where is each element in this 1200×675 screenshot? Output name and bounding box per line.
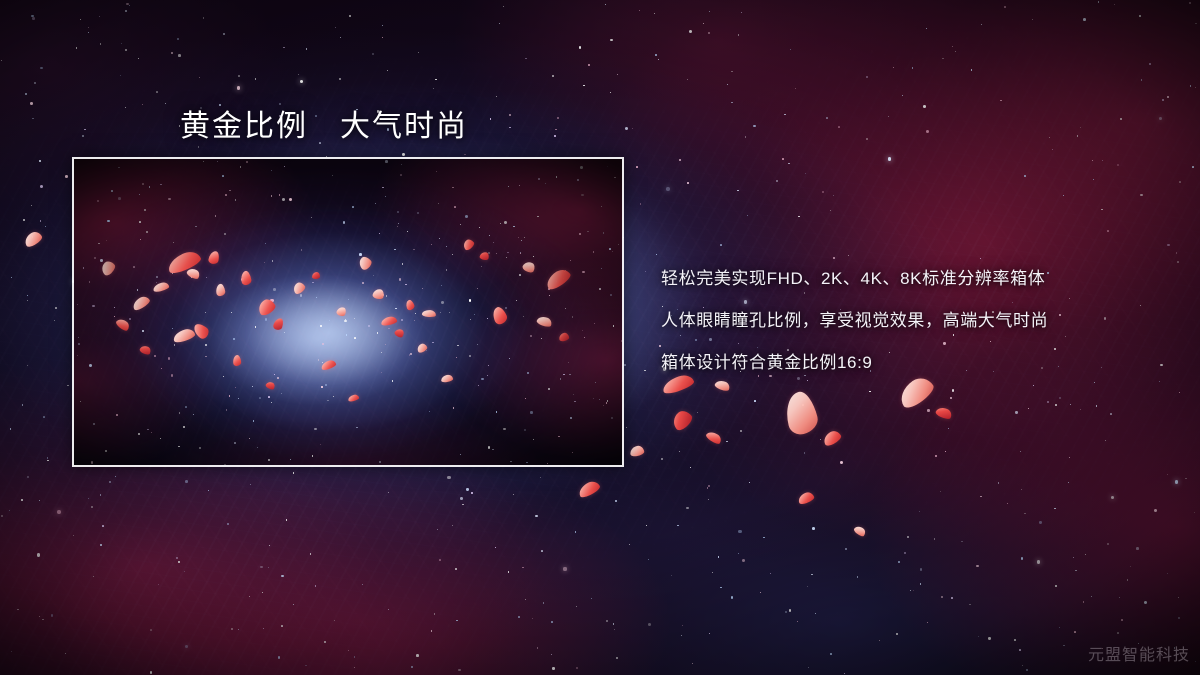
panel-photo xyxy=(74,159,622,465)
slide-canvas: 黄金比例 大气时尚 轻松完美实现FHD、2K、4K、8K标准分辨率箱体 人体眼睛… xyxy=(0,0,1200,675)
watermark-label: 元盟智能科技 xyxy=(1088,641,1190,665)
body-line-3: 箱体设计符合黄金比例16:9 xyxy=(661,342,1181,384)
framed-image-panel xyxy=(72,157,624,467)
page-title: 黄金比例 大气时尚 xyxy=(180,101,468,145)
body-copy-block: 轻松完美实现FHD、2K、4K、8K标准分辨率箱体 人体眼睛瞳孔比例，享受视觉效… xyxy=(661,258,1181,384)
body-line-1: 轻松完美实现FHD、2K、4K、8K标准分辨率箱体 xyxy=(661,258,1181,300)
body-line-2: 人体眼睛瞳孔比例，享受视觉效果，高端大气时尚 xyxy=(661,300,1181,342)
panel-vignette xyxy=(74,159,622,465)
